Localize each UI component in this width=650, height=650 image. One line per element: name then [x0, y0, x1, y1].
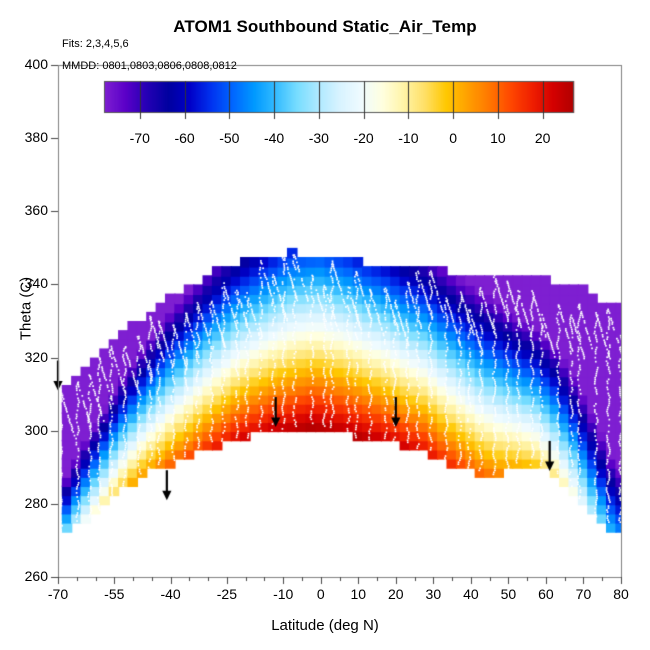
- y-tick-label: 260: [14, 568, 48, 584]
- colorbar-tick-label: 0: [428, 130, 478, 146]
- y-tick-label: 360: [14, 202, 48, 218]
- figure-panel: ATOM1 Southbound Static_Air_Temp Fits: 2…: [0, 0, 650, 650]
- x-tick-label: -70: [33, 586, 83, 602]
- y-tick-label: 320: [14, 349, 48, 365]
- y-tick-label: 400: [14, 56, 48, 72]
- fits-annotation: Fits: 2,3,4,5,6: [62, 38, 129, 50]
- mmdd-annotation: MMDD: 0801,0803,0806,0808,0812: [62, 60, 237, 72]
- colorbar-tick-label: -20: [339, 130, 389, 146]
- colorbar-tick-label: 10: [473, 130, 523, 146]
- page-title: ATOM1 Southbound Static_Air_Temp: [0, 17, 650, 37]
- colorbar-tick-label: 20: [518, 130, 568, 146]
- x-tick-label: 80: [596, 586, 646, 602]
- colorbar-tick-label: -40: [249, 130, 299, 146]
- colorbar-tick-label: -50: [204, 130, 254, 146]
- y-tick-label: 340: [14, 275, 48, 291]
- theta-latitude-heatmap-canvas: [0, 0, 650, 650]
- colorbar-tick-label: -70: [115, 130, 165, 146]
- y-tick-label: 380: [14, 129, 48, 145]
- x-tick-label: -40: [146, 586, 196, 602]
- y-tick-label: 300: [14, 422, 48, 438]
- colorbar-tick-label: -30: [294, 130, 344, 146]
- x-tick-label: -25: [202, 586, 252, 602]
- x-tick-label: -55: [89, 586, 139, 602]
- y-tick-label: 280: [14, 495, 48, 511]
- x-axis-label: Latitude (deg N): [0, 617, 650, 634]
- colorbar-tick-label: -10: [383, 130, 433, 146]
- colorbar-tick-label: -60: [160, 130, 210, 146]
